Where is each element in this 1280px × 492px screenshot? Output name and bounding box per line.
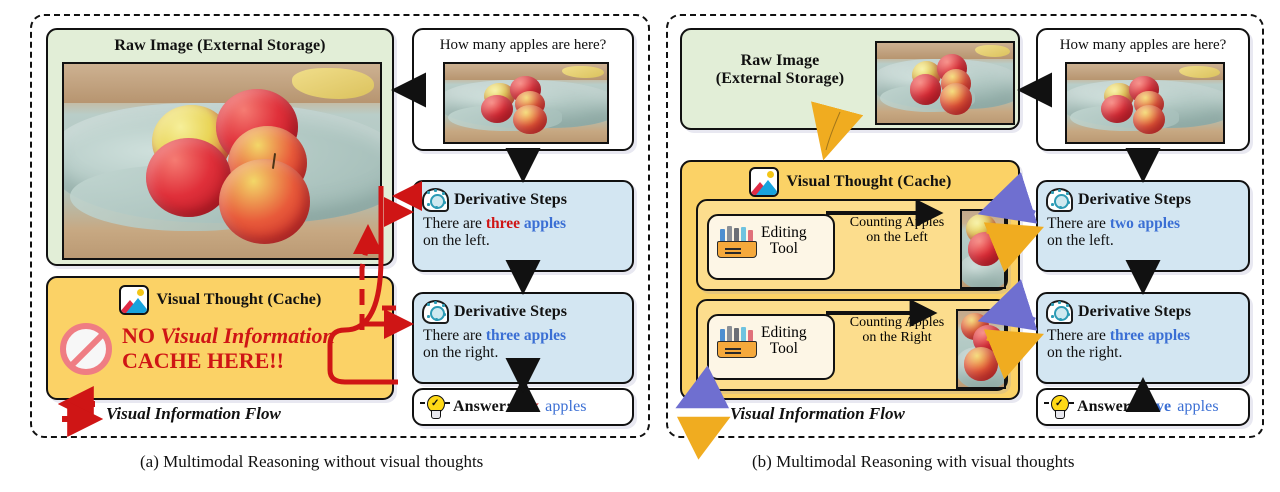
- panel-b-tool2-arrow-line1: Counting Apples: [840, 315, 954, 330]
- panel-a-cache-warning-line2: CACHE HERE!!: [122, 349, 335, 374]
- panel-a-flow-legend-label: Visual Information Flow: [106, 404, 281, 424]
- panel-a-step2-noun: apples: [524, 327, 566, 344]
- panel-b-tool2-label-line2: Tool: [761, 341, 807, 357]
- panel-b-answer-count: Five: [1141, 398, 1171, 416]
- panel-a-step2-box: Derivative Steps There are three apples …: [412, 292, 634, 384]
- panel-a-step2-title: Derivative Steps: [454, 303, 567, 321]
- editing-tool-icon: [716, 224, 756, 258]
- panel-a-raw-image-title: Raw Image (External Storage): [48, 37, 392, 55]
- panel-a-step1-count: three: [486, 215, 520, 232]
- panel-a-question-box: How many apples are here?: [412, 28, 634, 151]
- panel-b-tool2-box[interactable]: Editing Tool: [707, 314, 835, 380]
- panel-a-step1-box: Derivative Steps There are three apples …: [412, 180, 634, 272]
- panel-a-cache-warning-plain: NO: [122, 323, 161, 348]
- panel-b-answer-noun: apples: [1177, 398, 1218, 416]
- lightbulb-icon: ✓: [1047, 394, 1071, 420]
- panel-b-tool1-arrow-line1: Counting Apples: [840, 215, 954, 230]
- image-icon: [749, 167, 779, 197]
- panel-a-answer-count: Six: [517, 398, 539, 416]
- panel-b-step2-prefix: There are: [1047, 327, 1110, 344]
- panel-b-cache-box: Visual Thought (Cache) Editing To: [680, 160, 1020, 400]
- panel-b-raw-photo: [875, 41, 1015, 125]
- brain-icon: [1046, 188, 1073, 212]
- panel-b-tool2-result-thumb: [956, 309, 1006, 389]
- panel-b-step1-title: Derivative Steps: [1078, 191, 1191, 209]
- caption-b: (b) Multimodal Reasoning with visual tho…: [752, 452, 1075, 472]
- panel-a-step2-prefix: There are: [423, 327, 486, 344]
- panel-b-step1-count: two: [1110, 215, 1134, 232]
- panel-a-answer-label: Answer:: [453, 398, 511, 416]
- panel-b-question-thumb: [1065, 62, 1225, 144]
- panel-b-step2-box: Derivative Steps There are three apples …: [1036, 292, 1250, 384]
- panel-a-raw-photo: [62, 62, 382, 260]
- panel-b-step1-prefix: There are: [1047, 215, 1110, 232]
- panel-b-tool1-box[interactable]: Editing Tool: [707, 214, 835, 280]
- caption-a: (a) Multimodal Reasoning without visual …: [140, 452, 483, 472]
- panel-a-answer-noun: apples: [545, 398, 586, 416]
- panel-a-question-text: How many apples are here?: [414, 37, 632, 54]
- panel-b-step2-count: three: [1110, 327, 1144, 344]
- panel-b-tool1-row: Editing Tool Counting Apples on the Left: [696, 199, 1008, 291]
- panel-a-cache-warning-italic: Visual Information: [161, 323, 335, 348]
- panel-a-step2-suffix: on the right.: [423, 344, 498, 361]
- panel-b-tool1-arrow-line2: on the Left: [840, 230, 954, 245]
- panel-b-tool1-label-line1: Editing: [761, 225, 807, 241]
- panel-b-question-text: How many apples are here?: [1038, 37, 1248, 54]
- panel-b-cache-title: Visual Thought (Cache): [787, 173, 952, 191]
- no-entry-icon: [60, 323, 112, 375]
- panel-b-tool2-arrow-line2: on the Right: [840, 330, 954, 345]
- panel-b-step1-box: Derivative Steps There are two apples on…: [1036, 180, 1250, 272]
- panel-b-step1-suffix: on the left.: [1047, 232, 1114, 249]
- panel-a-step1-suffix: on the left.: [423, 232, 490, 249]
- panel-b-tool2-row: Editing Tool Counting Apples on the Righ…: [696, 299, 1008, 391]
- panel-a-question-thumb: [443, 62, 609, 144]
- panel-a-answer-box: ✓ Answer: Six apples: [412, 388, 634, 426]
- panel-b-flow-legend-label: Visual Information Flow: [730, 404, 905, 424]
- panel-a-step2-count: three: [486, 327, 520, 344]
- brain-icon: [422, 188, 449, 212]
- panel-b-tool2-label-line1: Editing: [761, 325, 807, 341]
- panel-a-step1-title: Derivative Steps: [454, 191, 567, 209]
- panel-b-raw-image-title-line2: (External Storage): [700, 70, 860, 88]
- panel-b-step2-suffix: on the right.: [1047, 344, 1122, 361]
- panel-a-cache-box: Visual Thought (Cache) NO Visual Informa…: [46, 276, 394, 400]
- panel-a-cache-title: Visual Thought (Cache): [157, 291, 322, 309]
- image-icon: [119, 285, 149, 315]
- panel-b-raw-image-box: Raw Image (External Storage): [680, 28, 1020, 130]
- brain-icon: [422, 300, 449, 324]
- panel-b-tool1-result-thumb: [960, 209, 1006, 289]
- panel-b-tool1-label-line2: Tool: [761, 241, 807, 257]
- panel-a-step1-prefix: There are: [423, 215, 486, 232]
- panel-a-step1-noun: apples: [524, 215, 566, 232]
- brain-icon: [1046, 300, 1073, 324]
- panel-b-question-box: How many apples are here?: [1036, 28, 1250, 151]
- lightbulb-icon: ✓: [423, 394, 447, 420]
- panel-b-answer-label: Answer:: [1077, 398, 1135, 416]
- panel-a-raw-image-box: Raw Image (External Storage): [46, 28, 394, 266]
- panel-b-step2-title: Derivative Steps: [1078, 303, 1191, 321]
- panel-b-step1-noun: apples: [1138, 215, 1180, 232]
- figure-root: Raw Image (External Storage) How many ap…: [0, 0, 1280, 492]
- editing-tool-icon: [716, 324, 756, 358]
- panel-b-answer-box: ✓ Answer: Five apples: [1036, 388, 1250, 426]
- panel-b-raw-image-title-line1: Raw Image: [700, 52, 860, 70]
- panel-b-step2-noun: apples: [1148, 327, 1190, 344]
